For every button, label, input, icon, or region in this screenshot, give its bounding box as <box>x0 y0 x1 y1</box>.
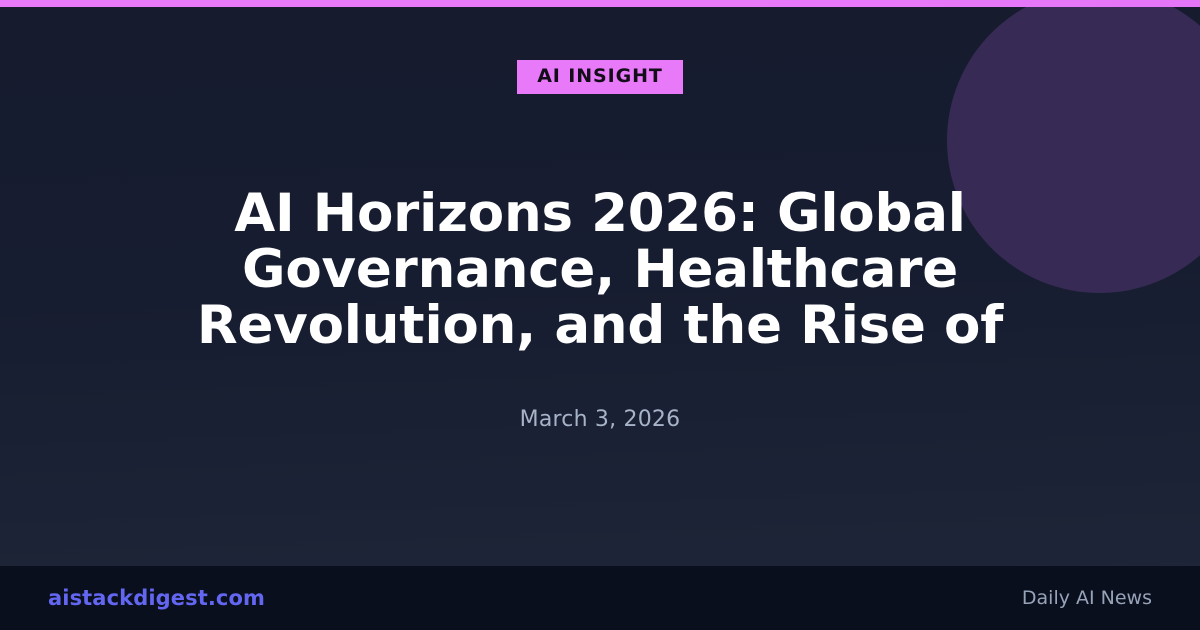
footer-site-url[interactable]: aistackdigest.com <box>48 586 265 610</box>
card-content: AI INSIGHT AI Horizons 2026: Global Gove… <box>0 0 1200 566</box>
footer-tagline: Daily AI News <box>1022 587 1152 609</box>
og-share-card: AI INSIGHT AI Horizons 2026: Global Gove… <box>0 0 1200 630</box>
category-badge: AI INSIGHT <box>517 60 683 94</box>
top-accent-bar <box>0 0 1200 7</box>
page-title: AI Horizons 2026: Global Governance, Hea… <box>0 186 1200 355</box>
card-footer: aistackdigest.com Daily AI News <box>0 566 1200 630</box>
publish-date: March 3, 2026 <box>520 407 681 432</box>
